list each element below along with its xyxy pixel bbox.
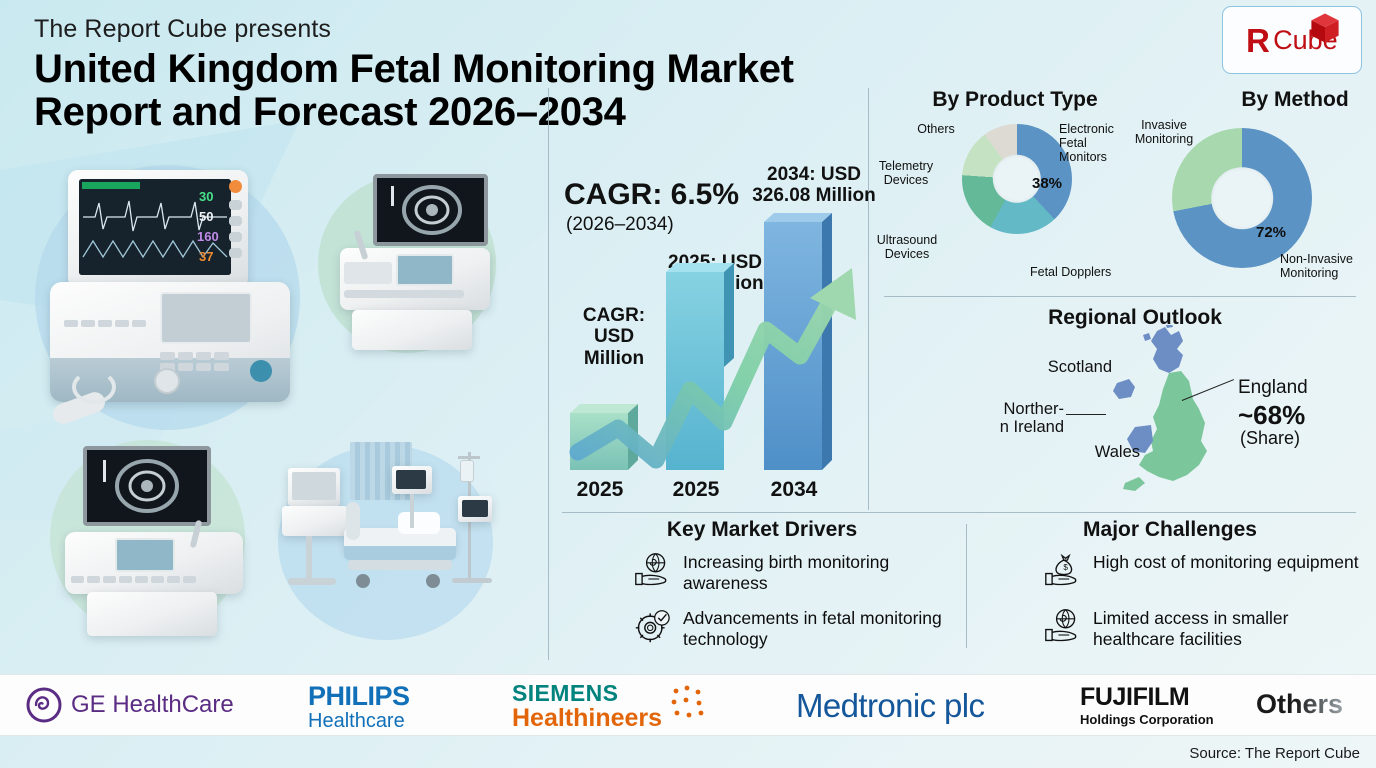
product-image-panel: 30 50 160 37 bbox=[0, 140, 545, 670]
ecg-waveform: 30 50 160 37 bbox=[79, 179, 231, 275]
market-forecast-chart: CAGR: 6.5% (2026–2034) CAGR: USD Million… bbox=[556, 160, 866, 510]
donut-label-invasive-monitoring: Invasive Monitoring bbox=[1122, 118, 1206, 146]
driver-item-2: Advancements in fetal monitoring technol… bbox=[632, 608, 942, 649]
brand-fujifilm-sub: Holdings Corporation bbox=[1080, 712, 1214, 727]
driver-text-1: Increasing birth monitoring awareness bbox=[683, 552, 942, 593]
donut-label-others: Others bbox=[908, 122, 964, 136]
readout-nibp: 50 bbox=[199, 209, 213, 224]
brand-others[interactable]: Others bbox=[1256, 689, 1343, 720]
divider-center-vertical bbox=[868, 88, 869, 510]
ge-monogram-icon bbox=[26, 687, 62, 723]
title-line-1: United Kingdom Fetal Monitoring Market bbox=[34, 48, 794, 91]
product-type-pct-efm: 38% bbox=[1032, 175, 1062, 192]
map-label-scotland: Scotland bbox=[1026, 358, 1112, 376]
brand-medtronic-label: Medtronic plc bbox=[796, 687, 984, 725]
donut-label-non-invasive-monitoring: Non-Invasive Monitoring bbox=[1280, 252, 1376, 280]
brand-healthineers-label: Healthineers bbox=[512, 704, 662, 733]
challenge-text-2: Limited access in smaller healthcare fac… bbox=[1093, 608, 1362, 649]
brand-fujifilm[interactable]: FUJIFILM Holdings Corporation bbox=[1080, 683, 1214, 727]
brand-philips-sub: Healthcare bbox=[308, 710, 405, 733]
pillow bbox=[398, 512, 440, 534]
bar-axis-label-3: 2034 bbox=[756, 478, 832, 502]
logo-r-glyph: Я bbox=[1246, 24, 1270, 57]
donut-label-electronic-fetal-monitors: Electronic Fetal Monitors bbox=[1059, 122, 1131, 164]
brand-others-label: Others bbox=[1256, 689, 1343, 720]
method-title: By Method bbox=[1180, 88, 1376, 112]
challenge-item-2: Limited access in smaller healthcare fac… bbox=[1042, 608, 1362, 649]
challenge-item-1: $ High cost of monitoring equipment bbox=[1042, 552, 1362, 588]
hand-globe-icon bbox=[632, 552, 672, 588]
brand-philips-label: PHILIPS bbox=[308, 681, 410, 712]
bar-axis-label-1: 2025 bbox=[562, 478, 638, 502]
brand-logo-strip: GE HealthCare PHILIPS Healthcare SIEMENS… bbox=[0, 674, 1376, 736]
hospital-bed-scene bbox=[282, 442, 507, 634]
readout-fhr: 160 bbox=[197, 229, 219, 244]
donut-label-telemetry-devices: Telemetry Devices bbox=[866, 159, 946, 187]
product-type-title: By Product Type bbox=[900, 88, 1130, 112]
map-label-wales: Wales bbox=[1072, 443, 1140, 461]
leader-line-northern-ireland bbox=[1066, 414, 1106, 415]
brand-fujifilm-label: FUJIFILM bbox=[1080, 683, 1189, 712]
divider-left-vertical bbox=[548, 88, 549, 660]
map-label-england: England bbox=[1238, 377, 1328, 398]
bar-axis-label-2: 2025 bbox=[658, 478, 734, 502]
brand-siemens-healthineers[interactable]: SIEMENS Healthineers bbox=[512, 680, 662, 733]
header-kicker: The Report Cube presents bbox=[34, 14, 794, 44]
brand-siemens-label: SIEMENS bbox=[512, 680, 618, 707]
method-donut[interactable] bbox=[1172, 128, 1312, 268]
page-title: United Kingdom Fetal Monitoring Market R… bbox=[34, 48, 794, 134]
brand-ge-healthcare[interactable]: GE HealthCare bbox=[26, 687, 234, 723]
uk-map[interactable] bbox=[1095, 325, 1245, 505]
method-pct-noninvasive: 72% bbox=[1256, 224, 1286, 241]
hand-moneybag-icon: $ bbox=[1042, 552, 1082, 588]
infographic-canvas: The Report Cube presents United Kingdom … bbox=[0, 0, 1376, 768]
source-credit: Source: The Report Cube bbox=[1189, 745, 1360, 762]
ultrasound-cart-device-2 bbox=[55, 440, 255, 635]
england-share-pct: ~68% bbox=[1238, 400, 1305, 431]
siemens-dots-icon bbox=[670, 685, 712, 723]
challenges-title: Major Challenges bbox=[980, 518, 1360, 542]
ultrasound-scan-image bbox=[377, 178, 484, 242]
england-share-caption: (Share) bbox=[1240, 428, 1300, 449]
brand-philips[interactable]: PHILIPS Healthcare bbox=[308, 681, 410, 733]
uk-map-svg bbox=[1095, 325, 1245, 505]
readout-temp: 37 bbox=[199, 249, 213, 264]
readout-hr: 30 bbox=[199, 189, 213, 204]
map-label-northern-ireland: Norther- n Ireland bbox=[986, 400, 1064, 437]
hand-globe-icon bbox=[1042, 608, 1082, 644]
brand-ge-label: GE HealthCare bbox=[71, 691, 234, 719]
donut-label-ultrasound-devices: Ultrasound Devices bbox=[868, 233, 946, 261]
divider-regional-top bbox=[884, 296, 1356, 297]
title-line-2: Report and Forecast 2026–2034 bbox=[34, 91, 794, 134]
ultrasound-scan-image-2 bbox=[87, 450, 207, 522]
donut-label-fetal-dopplers: Fetal Dopplers bbox=[1030, 265, 1122, 279]
divider-drivers-challenges bbox=[966, 524, 967, 648]
header: The Report Cube presents United Kingdom … bbox=[34, 14, 794, 134]
fetal-monitor-device: 30 50 160 37 bbox=[42, 170, 312, 435]
svg-text:$: $ bbox=[1063, 563, 1068, 572]
brand-logo[interactable]: Я Cube bbox=[1222, 6, 1362, 74]
divider-bottom-sections bbox=[562, 512, 1356, 513]
driver-item-1: Increasing birth monitoring awareness bbox=[632, 552, 942, 593]
red-cube-icon bbox=[1308, 11, 1342, 45]
bar-chart-3d bbox=[556, 160, 866, 490]
driver-text-2: Advancements in fetal monitoring technol… bbox=[683, 608, 942, 649]
challenge-text-1: High cost of monitoring equipment bbox=[1093, 552, 1359, 573]
ultrasound-cart-device-1 bbox=[318, 170, 503, 350]
drivers-title: Key Market Drivers bbox=[562, 518, 962, 542]
brand-medtronic[interactable]: Medtronic plc bbox=[796, 687, 984, 725]
gear-check-icon bbox=[632, 608, 672, 644]
